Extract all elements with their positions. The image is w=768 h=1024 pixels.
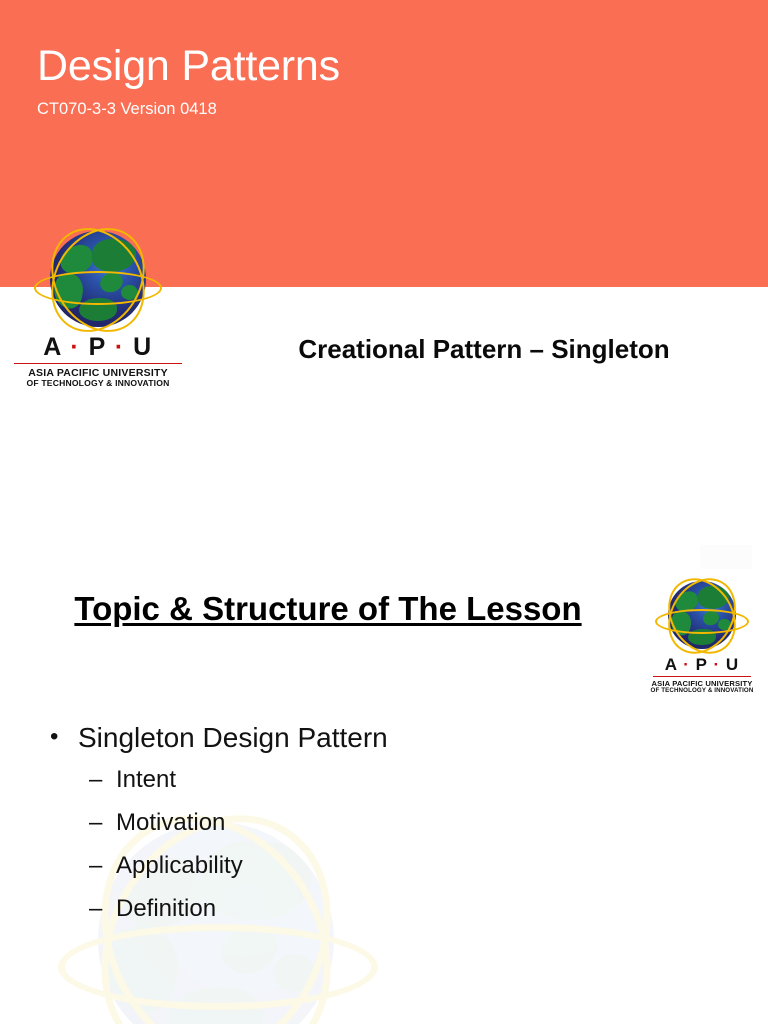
apu-letter-a: A	[665, 655, 678, 674]
globe-atom-icon	[34, 227, 162, 331]
deck-subtitle-module-code: CT070-3-3 Version 0418	[37, 100, 217, 119]
apu-dot-1: ·	[683, 655, 690, 674]
list-item: – Applicability	[44, 854, 644, 878]
apu-letter-u: U	[726, 655, 739, 674]
list-item-label: Singleton Design Pattern	[78, 722, 388, 753]
list-item-label: Motivation	[116, 809, 225, 836]
list-item: – Definition	[44, 897, 644, 921]
apu-wordmark: A · P · U	[10, 333, 186, 362]
dash-marker: –	[89, 854, 102, 878]
orbit-ring-horizontal	[34, 271, 162, 305]
apu-tagline-line2: OF TECHNOLOGY & INNOVATION	[644, 687, 760, 694]
slide-topic-structure: Topic & Structure of The Lesson A · P · …	[0, 512, 768, 1024]
apu-wordmark: A · P · U	[644, 655, 760, 675]
apu-letter-p: P	[89, 333, 107, 361]
list-item: – Motivation	[44, 811, 644, 835]
lesson-heading: Topic & Structure of The Lesson	[40, 586, 616, 633]
lesson-outline-list: • Singleton Design Pattern – Intent – Mo…	[44, 724, 644, 940]
slide-title-slide: Design Patterns CT070-3-3 Version 0418 A…	[0, 0, 768, 512]
slide-artifact-box	[700, 545, 752, 569]
list-item: • Singleton Design Pattern	[44, 724, 644, 752]
apu-letter-u: U	[133, 333, 153, 361]
dash-marker: –	[89, 768, 102, 792]
list-item: – Intent	[44, 768, 644, 792]
apu-letter-p: P	[696, 655, 708, 674]
apu-logo: A · P · U ASIA PACIFIC UNIVERSITY OF TEC…	[10, 227, 186, 387]
dash-marker: –	[89, 897, 102, 921]
apu-tagline-line2: OF TECHNOLOGY & INNOVATION	[10, 378, 186, 388]
list-item-label: Intent	[116, 766, 176, 793]
apu-divider-rule	[653, 676, 750, 677]
dash-marker: –	[89, 811, 102, 835]
apu-dot-2: ·	[713, 655, 720, 674]
apu-logo: A · P · U ASIA PACIFIC UNIVERSITY OF TEC…	[644, 578, 760, 690]
slide-one-heading: Creational Pattern – Singleton	[200, 334, 768, 365]
list-item-label: Definition	[116, 895, 216, 922]
deck-title: Design Patterns	[37, 44, 340, 89]
orbit-ring-horizontal	[655, 609, 749, 634]
apu-dot-1: ·	[70, 333, 80, 361]
list-item-label: Applicability	[116, 852, 243, 879]
apu-dot-2: ·	[115, 333, 125, 361]
bullet-marker: •	[50, 724, 58, 749]
globe-atom-icon	[655, 578, 749, 654]
apu-letter-a: A	[43, 333, 62, 361]
apu-divider-rule	[14, 363, 183, 364]
